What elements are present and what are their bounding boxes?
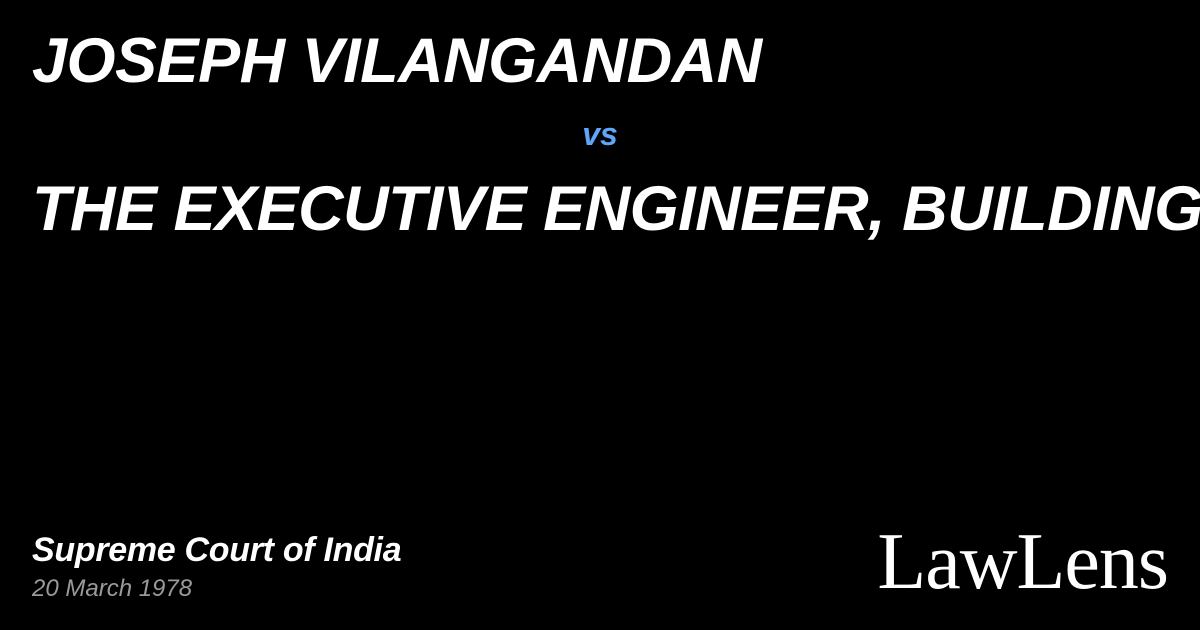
respondent-name: THE EXECUTIVE ENGINEER, BUILDINGS &... xyxy=(0,178,1200,241)
lawlens-wordmark: LawLens xyxy=(877,524,1168,600)
court-name: Supreme Court of India xyxy=(32,532,401,569)
court-info: Supreme Court of India 20 March 1978 xyxy=(32,532,401,602)
judgment-date: 20 March 1978 xyxy=(32,576,401,602)
case-share-card: JOSEPH VILANGANDAN vs THE EXECUTIVE ENGI… xyxy=(0,0,1200,630)
petitioner-name: JOSEPH VILANGANDAN xyxy=(0,30,1200,93)
versus-separator: vs xyxy=(0,118,1200,150)
card-footer: Supreme Court of India 20 March 1978 Law… xyxy=(0,470,1200,630)
